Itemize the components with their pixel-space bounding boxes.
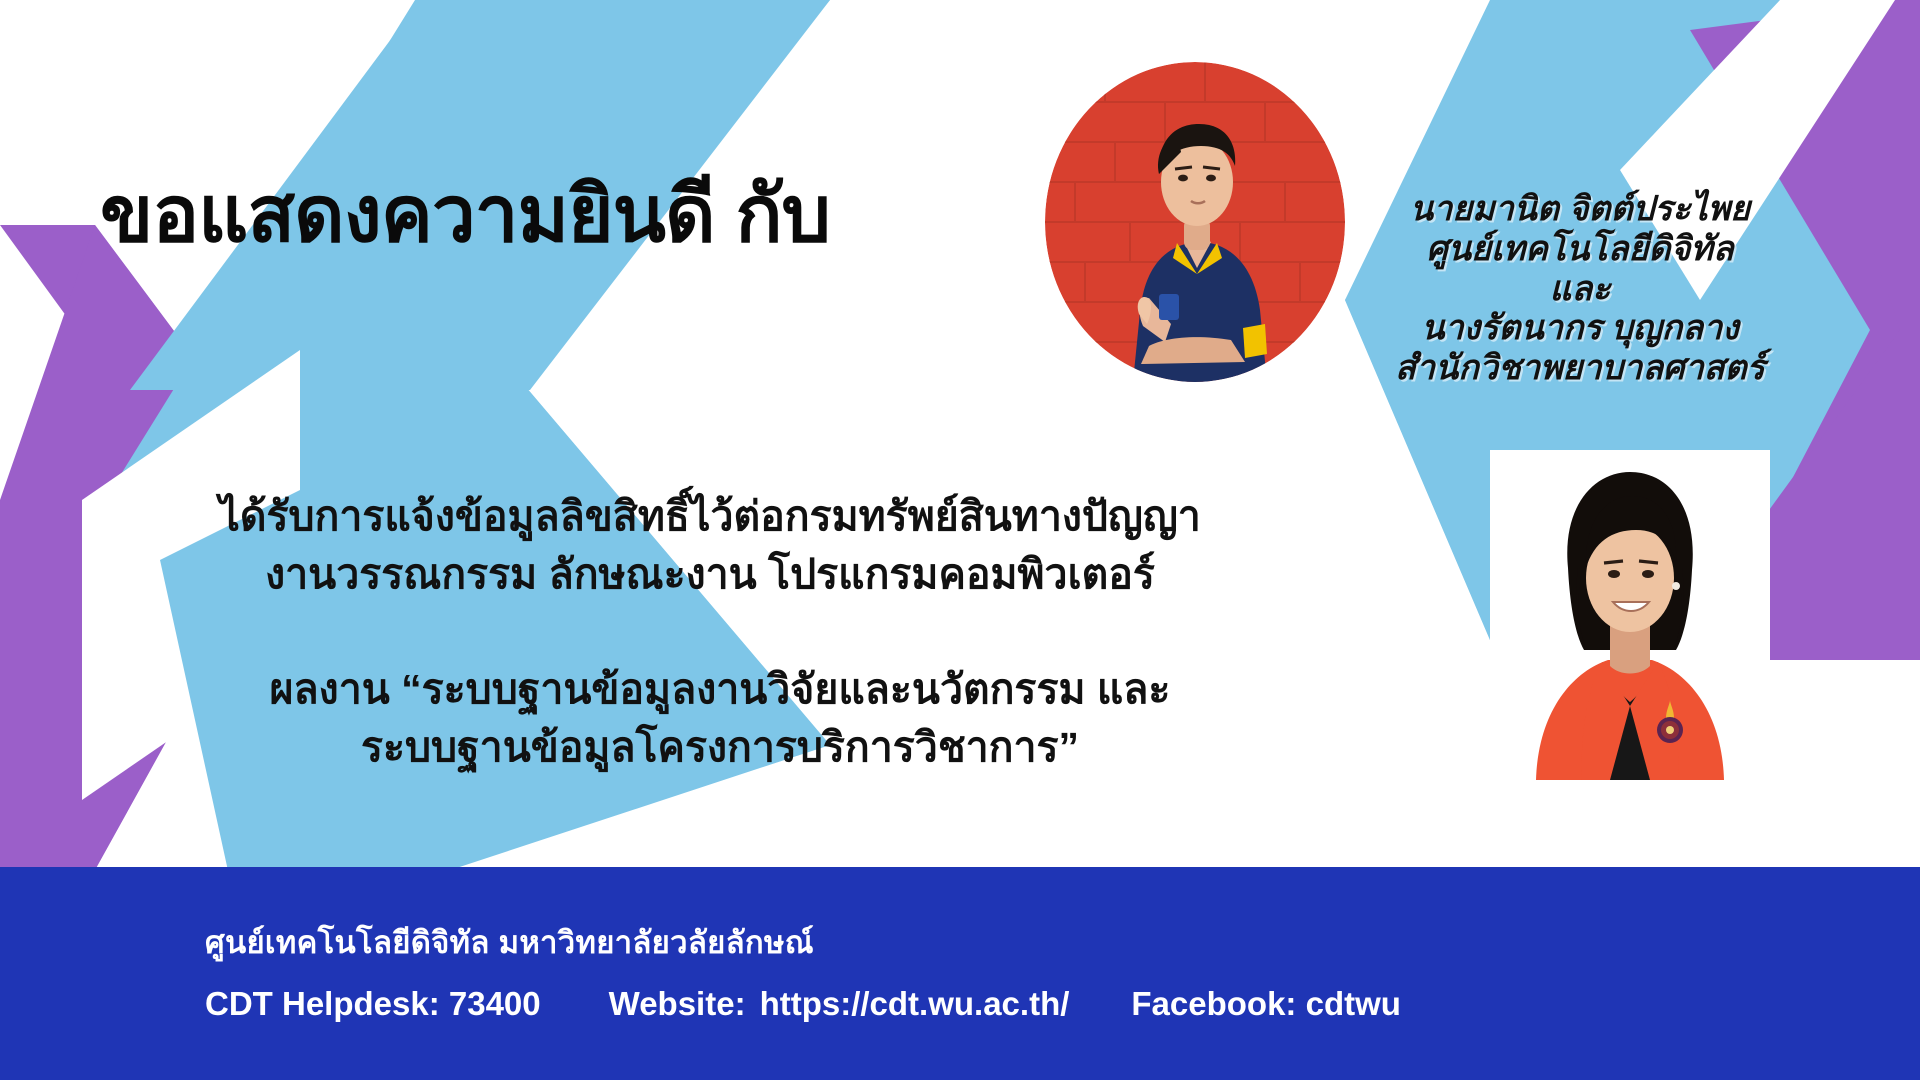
body-2-line-1: ผลงาน “ระบบฐานข้อมูลงานวิจัยและนวัตกรรม …	[160, 660, 1280, 718]
body-paragraph-2: ผลงาน “ระบบฐานข้อมูลงานวิจัยและนวัตกรรม …	[160, 660, 1280, 776]
body-2-line-2: ระบบฐานข้อมูลโครงการบริการวิชาการ”	[160, 718, 1280, 776]
footer-website-url[interactable]: https://cdt.wu.ac.th/	[760, 985, 1070, 1023]
honoree-name-1: นายมานิต จิตต์ประไพย	[1330, 190, 1830, 230]
footer-contact-row: CDT Helpdesk: 73400 Website: https://cdt…	[205, 985, 1401, 1023]
body-paragraph-1: ได้รับการแจ้งข้อมูลลิขสิทธิ์ไว้ต่อกรมทรั…	[130, 487, 1290, 603]
body-1-line-2: งานวรรณกรรม ลักษณะงาน โปรแกรมคอมพิวเตอร์	[130, 545, 1290, 603]
honoree-name-2: นางรัตนากร บุญกลาง	[1330, 309, 1830, 349]
photo-woman-portrait	[1490, 450, 1770, 780]
honoree-unit-1: ศูนย์เทคโนโลยีดิจิทัล	[1330, 230, 1830, 270]
honoree-unit-2: สำนักวิชาพยาบาลศาสตร์	[1330, 349, 1830, 389]
page-title: ขอแสดงความยินดี กับ	[100, 172, 1000, 258]
footer-website-label: Website:	[609, 985, 746, 1023]
footer-facebook[interactable]: Facebook: cdtwu	[1131, 985, 1401, 1023]
footer-helpdesk: CDT Helpdesk: 73400	[205, 985, 541, 1023]
footer-bar: ศูนย์เทคโนโลยีดิจิทัล มหาวิทยาลัยวลัยลัก…	[0, 867, 1920, 1080]
photo-man-thumbs-up	[1045, 62, 1345, 382]
honoree-names: นายมานิต จิตต์ประไพย ศูนย์เทคโนโลยีดิจิท…	[1330, 190, 1830, 389]
footer-organization: ศูนย์เทคโนโลยีดิจิทัล มหาวิทยาลัยวลัยลัก…	[205, 917, 814, 967]
body-1-line-1: ได้รับการแจ้งข้อมูลลิขสิทธิ์ไว้ต่อกรมทรั…	[130, 487, 1290, 545]
congratulation-poster: ขอแสดงความยินดี กับ นายมานิต จิตต์ประไพย…	[0, 0, 1920, 1080]
honoree-conjunction: และ	[1330, 270, 1830, 310]
